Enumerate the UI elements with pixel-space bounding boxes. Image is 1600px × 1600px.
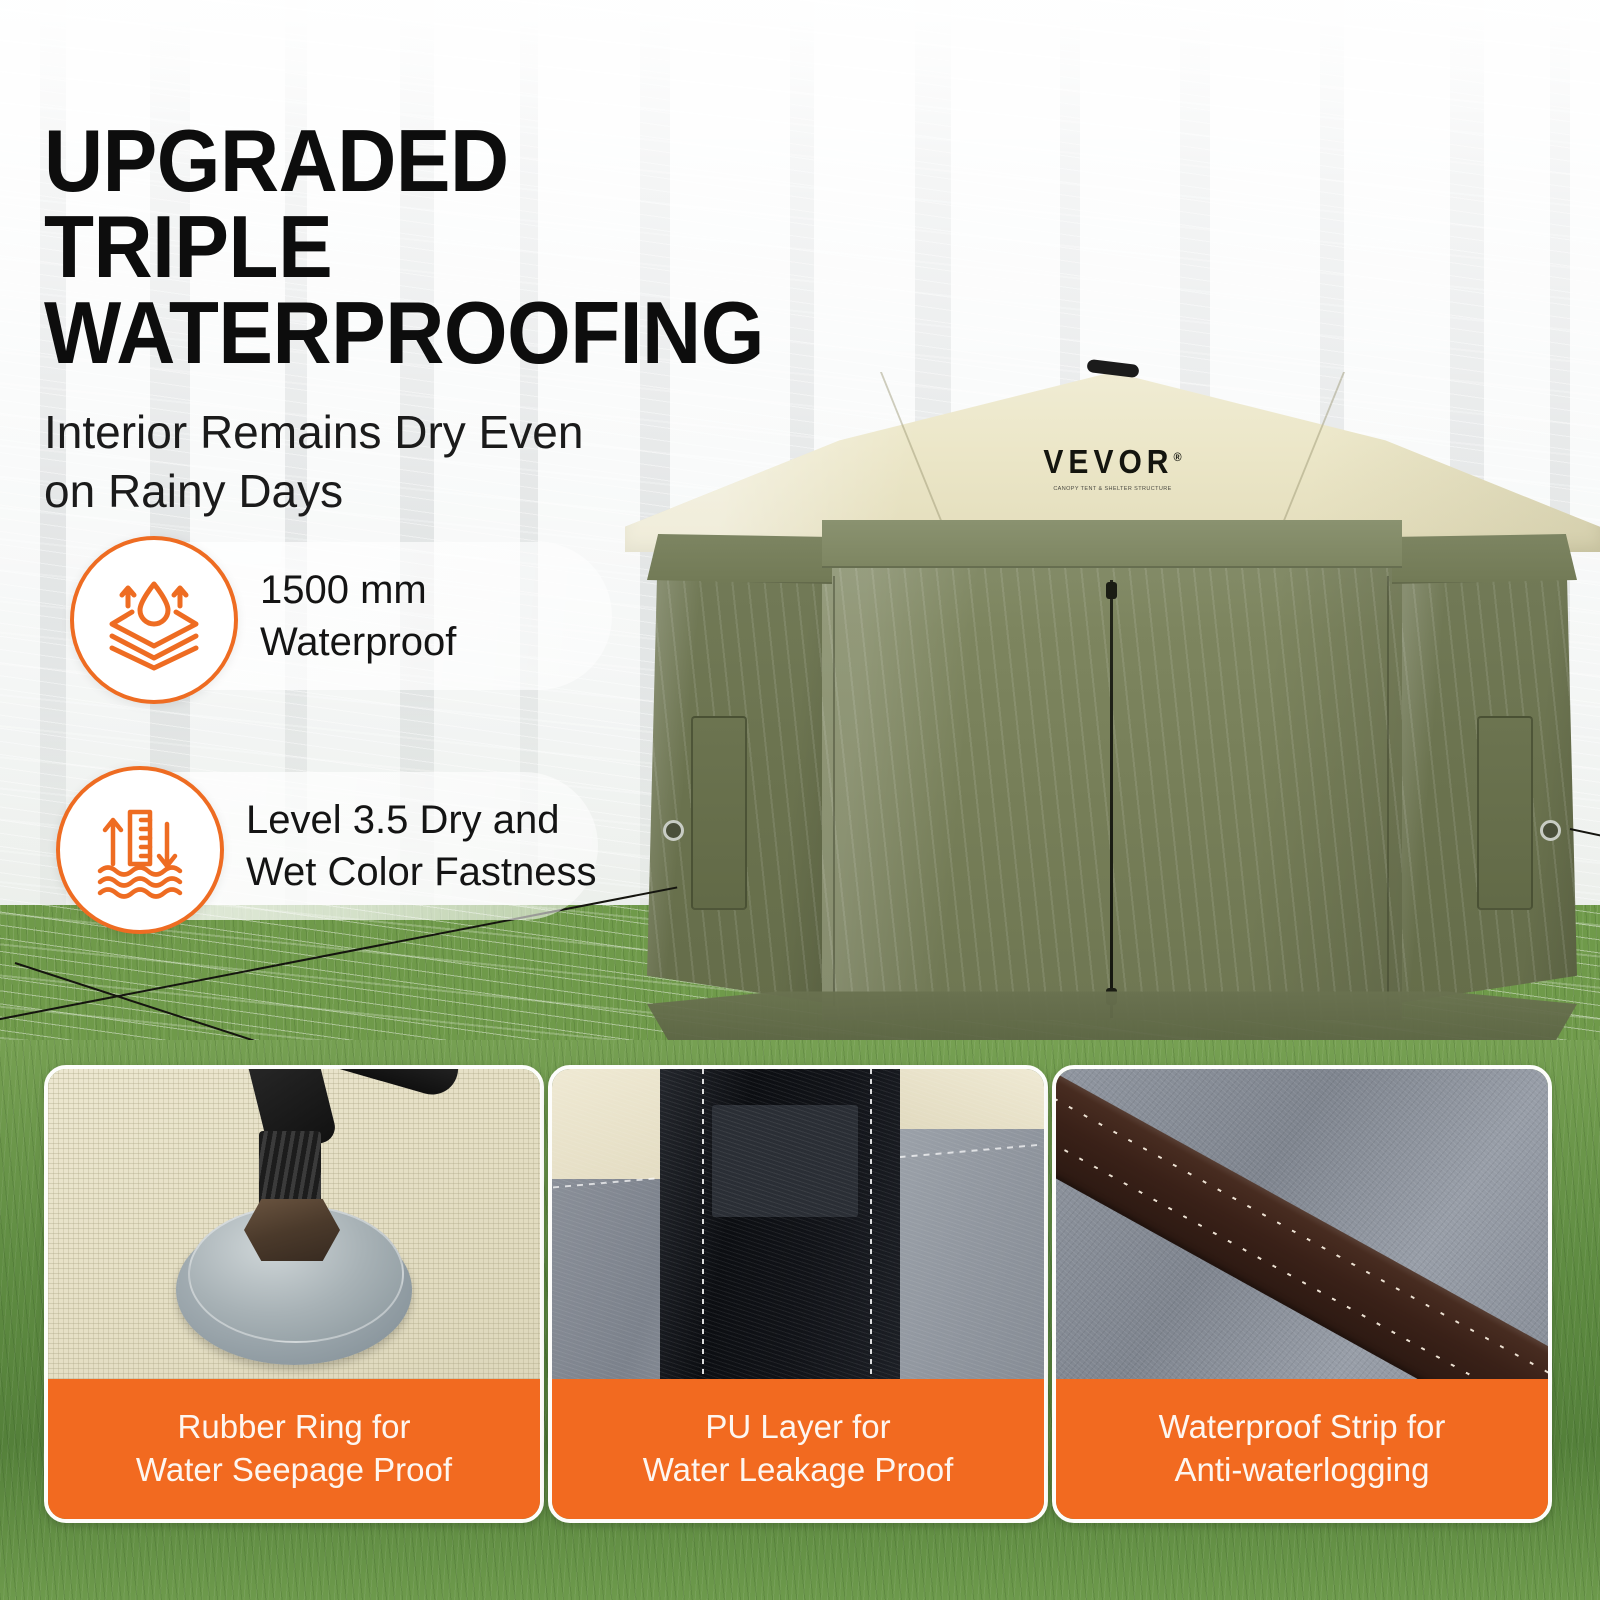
grommet-rubber-ring-photo (48, 1069, 540, 1379)
caption-strip-line-1: Waterproof Strip for (1159, 1406, 1446, 1449)
caption-rubber-ring-line-2: Water Seepage Proof (136, 1449, 452, 1492)
caption-pu-layer-line-1: PU Layer for (643, 1406, 954, 1449)
headline-line-2: WATERPROOFING (44, 290, 788, 376)
caption-pu-layer: PU Layer for Water Leakage Proof (552, 1379, 1044, 1519)
registered-mark: ® (1173, 451, 1181, 464)
subheadline-line-1: Interior Remains Dry Even (44, 403, 844, 462)
pu-coated-seam-photo (552, 1069, 1044, 1379)
tent-grommet-left (663, 820, 684, 841)
tent-grommet-right (1540, 820, 1561, 841)
waterproof-strip-photo (1056, 1069, 1548, 1379)
caption-waterproof-strip: Waterproof Strip for Anti-waterlogging (1056, 1379, 1548, 1519)
color-fastness-gauge-icon (56, 766, 224, 934)
feature-text-color-fastness: Level 3.5 Dry and Wet Color Fastness (246, 794, 597, 898)
detail-card-rubber-ring: Rubber Ring for Water Seepage Proof (44, 1065, 544, 1523)
product-marketing-image: VEVOR® CANOPY TENT & SHELTER STRUCTURE (0, 0, 1600, 1600)
detail-card-pu-layer: PU Layer for Water Leakage Proof (548, 1065, 1048, 1523)
tent-valance (822, 520, 1402, 568)
feature-fastness-line-2: Wet Color Fastness (246, 846, 597, 898)
headline-line-1: UPGRADED TRIPLE (44, 118, 788, 290)
caption-rubber-ring: Rubber Ring for Water Seepage Proof (48, 1379, 540, 1519)
caption-strip-line-2: Anti-waterlogging (1159, 1449, 1446, 1492)
tent-walls (647, 520, 1577, 1020)
feature-waterproof-line-2: Waterproof (260, 616, 456, 668)
headline-block: UPGRADED TRIPLE WATERPROOFING Interior R… (44, 118, 844, 520)
waterproof-layers-icon (70, 536, 238, 704)
feature-pill-waterproof: 1500 mm Waterproof (92, 542, 612, 690)
detail-cards-row: Rubber Ring for Water Seepage Proof (0, 1065, 1600, 1525)
subheadline-line-2: on Rainy Days (44, 462, 844, 521)
tent-window-left (691, 716, 747, 910)
feature-pill-color-fastness: Level 3.5 Dry and Wet Color Fastness (78, 772, 598, 920)
tent-door-zipper (1110, 580, 1113, 1018)
feature-fastness-line-1: Level 3.5 Dry and (246, 794, 597, 846)
caption-rubber-ring-line-1: Rubber Ring for (136, 1406, 452, 1449)
caption-pu-layer-line-2: Water Leakage Proof (643, 1449, 954, 1492)
feature-waterproof-line-1: 1500 mm (260, 564, 456, 616)
tent-window-right (1477, 716, 1533, 910)
detail-card-waterproof-strip: Waterproof Strip for Anti-waterlogging (1052, 1065, 1552, 1523)
brand-name-text: VEVOR (1043, 444, 1173, 481)
feature-text-waterproof: 1500 mm Waterproof (260, 564, 456, 668)
